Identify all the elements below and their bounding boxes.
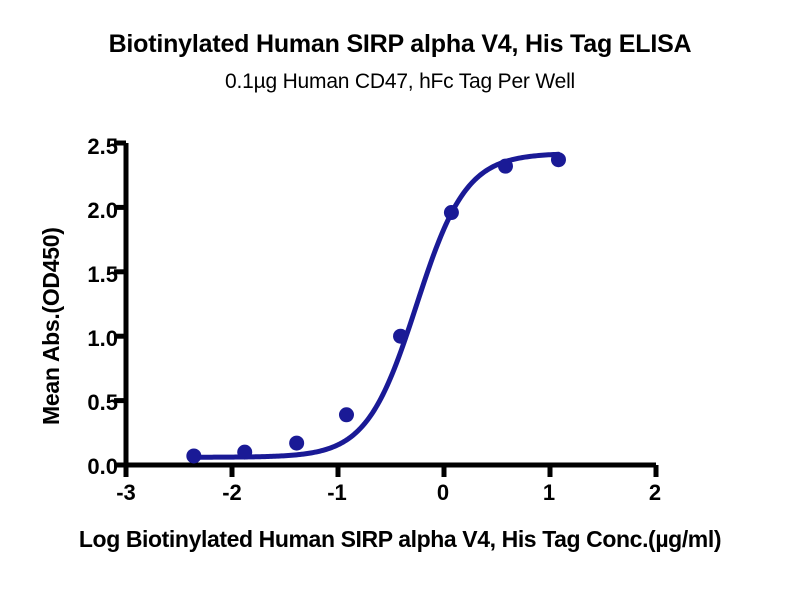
elisa-chart-figure: Biotinylated Human SIRP alpha V4, His Ta… bbox=[0, 0, 800, 600]
data-point-6 bbox=[498, 159, 513, 174]
axis-spines bbox=[126, 143, 656, 465]
data-points bbox=[186, 152, 566, 463]
data-point-3 bbox=[339, 407, 354, 422]
data-point-2 bbox=[289, 436, 304, 451]
data-point-0 bbox=[186, 448, 201, 463]
data-point-5 bbox=[444, 205, 459, 220]
data-point-1 bbox=[237, 445, 252, 460]
plot-canvas bbox=[0, 0, 800, 600]
fit-curve bbox=[194, 154, 559, 457]
data-point-7 bbox=[551, 152, 566, 167]
data-point-4 bbox=[393, 329, 408, 344]
